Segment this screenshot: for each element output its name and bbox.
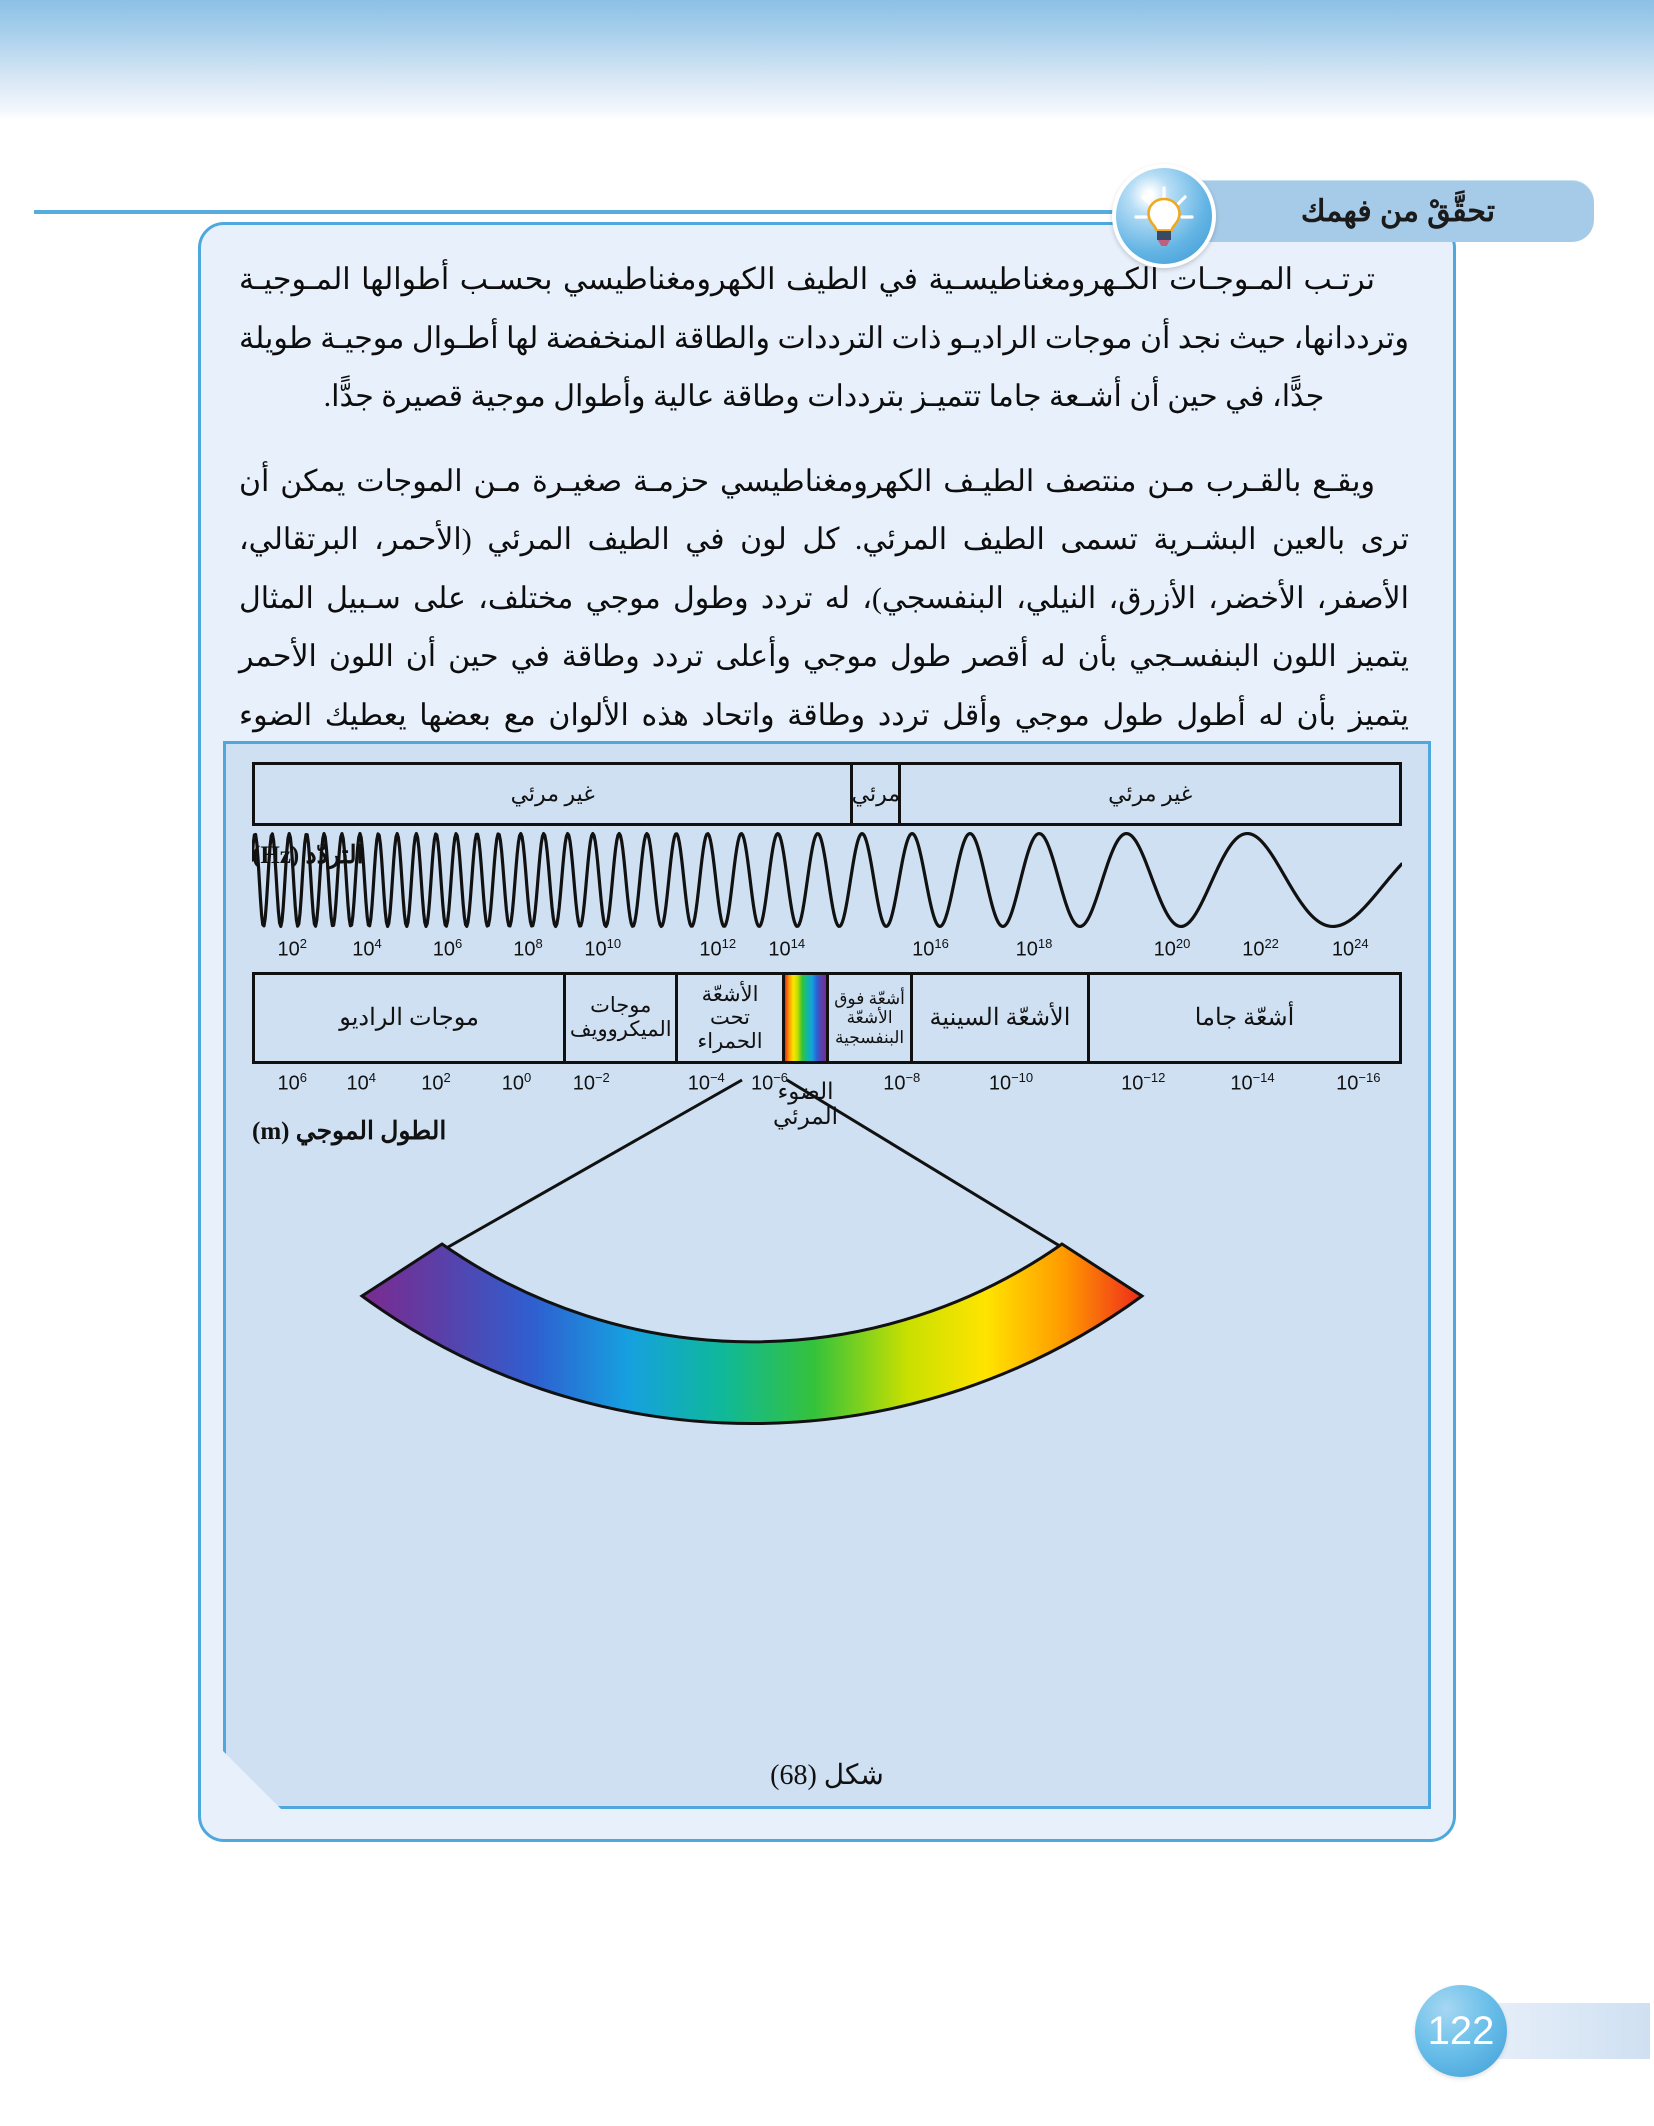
visible-light-band: الضوءالمرئي (785, 975, 830, 1061)
spectrum-band: الأشعّة تحت الحمراء (678, 975, 784, 1061)
figure-caption: شكل (68) (226, 1758, 1428, 1792)
frequency-tick-label: 1014 (768, 936, 805, 962)
frequency-axis-unit-label: التردّد (Hz) (252, 840, 364, 870)
frequency-tick-label: 108 (513, 936, 542, 962)
check-understanding-content-box: مدرستي school-kw.com ترتـب المـوجـات الك… (198, 222, 1456, 1842)
visibility-cell: مرئي (853, 765, 901, 823)
check-understanding-header: تحقَّقْ من فهمك (1158, 168, 1594, 254)
frequency-tick-label: 102 (278, 936, 307, 962)
electromagnetic-spectrum-figure: غير مرئيمرئيغير مرئي التردّد (Hz) 102410… (223, 741, 1431, 1809)
spectrum-band-strip: أشعّة جاماالأشعّة السينيةأشعّة فوق الأشع… (252, 972, 1402, 1064)
spectrum-band: الأشعّة السينية (913, 975, 1090, 1061)
visibility-cell: غير مرئي (255, 765, 853, 823)
frequency-tick-label: 1010 (584, 936, 621, 962)
frequency-axis-ticks: 1024102210201018101610141012101010810610… (252, 936, 1402, 966)
spectrum-band: أشعّة جاما (1090, 975, 1399, 1061)
paragraph-1: ترتـب المـوجـات الكـهرومغناطيسـية في الط… (239, 251, 1409, 427)
header-pill: تحقَّقْ من فهمك (1158, 180, 1594, 242)
frequency-tick-label: 1018 (1016, 936, 1053, 962)
wave-curve (252, 826, 1402, 934)
page-top-decorative-band (0, 0, 1654, 120)
frequency-tick-label: 106 (433, 936, 462, 962)
visibility-cell: غير مرئي (901, 765, 1399, 823)
visibility-strip: غير مرئيمرئيغير مرئي (252, 762, 1402, 826)
header-divider-rule (34, 210, 1154, 214)
frequency-tick-label: 1022 (1242, 936, 1279, 962)
frequency-tick-label: 1024 (1332, 936, 1369, 962)
spectrum-diagram: غير مرئيمرئيغير مرئي التردّد (Hz) 102410… (226, 744, 1428, 1806)
spectrum-band: أشعّة فوق الأشعّة البنفسجية (829, 975, 913, 1061)
spectrum-band: موجات الميكروويف (566, 975, 678, 1061)
header-title: تحقَّقْ من فهمك (1301, 194, 1495, 229)
lightbulb-icon (1112, 164, 1216, 268)
frequency-tick-label: 1016 (912, 936, 949, 962)
visible-spectrum-expansion (252, 1074, 1402, 1634)
frequency-tick-label: 104 (352, 936, 381, 962)
page-number-badge: 122 (1415, 1985, 1507, 2077)
frequency-tick-label: 1012 (699, 936, 736, 962)
frequency-tick-label: 1020 (1154, 936, 1191, 962)
spectrum-band: موجات الراديو (255, 975, 566, 1061)
